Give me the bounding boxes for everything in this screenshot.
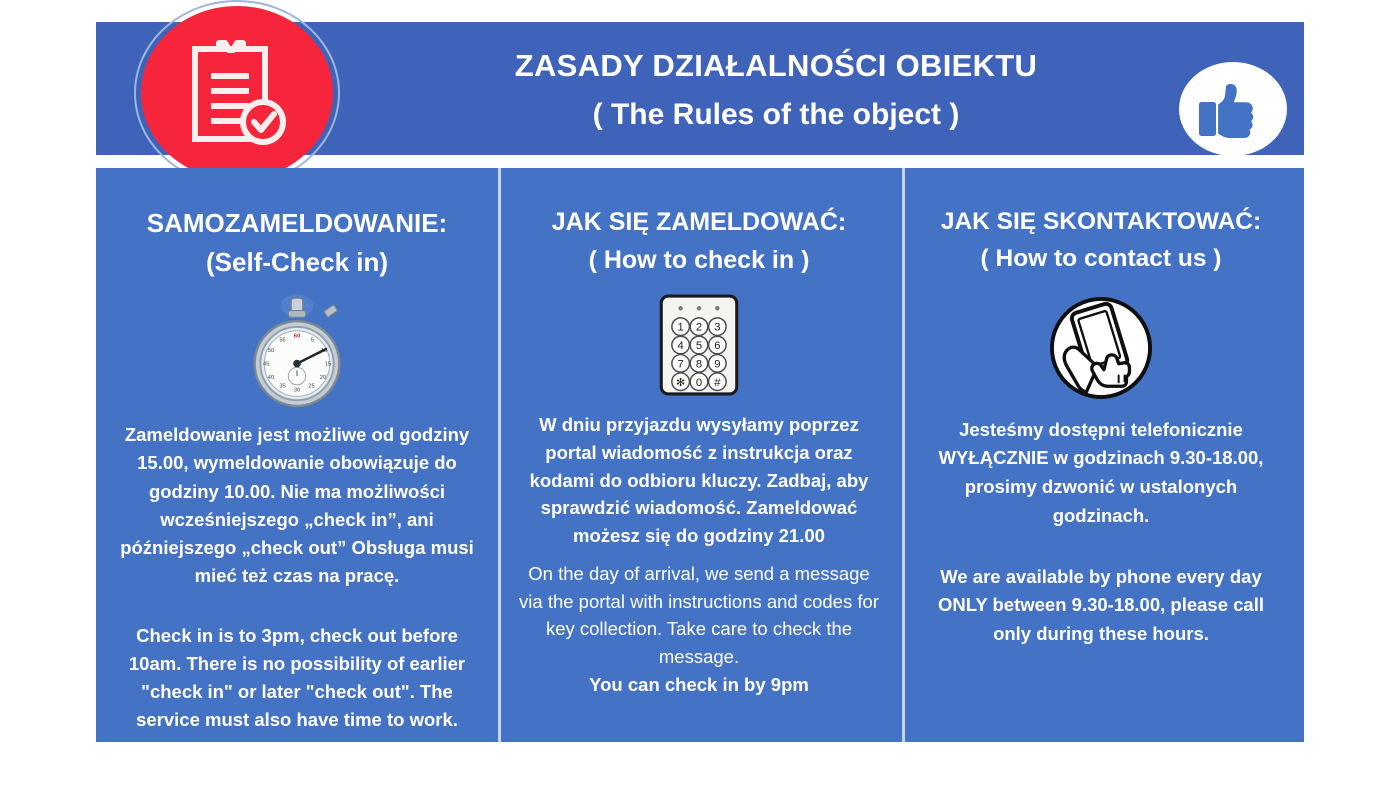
column-heading-pl: SAMOZAMELDOWANIE: [110, 208, 484, 238]
svg-text:5: 5 [696, 340, 702, 352]
svg-text:6: 6 [714, 340, 720, 352]
svg-text:0: 0 [696, 377, 702, 389]
svg-text:#: # [714, 377, 721, 389]
column-body-en-highlight: You can check in by 9pm [512, 671, 886, 699]
column-self-check-in: SAMOZAMELDOWANIE: (Self-Check in) [96, 168, 498, 742]
hand-holding-phone-icon [914, 290, 1288, 406]
svg-text:60: 60 [294, 334, 300, 340]
svg-text:9: 9 [714, 358, 720, 370]
column-heading-pl: JAK SIĘ SKONTAKTOWAĆ: [914, 208, 1288, 236]
page-title: ZASADY DZIAŁALNOŚCI OBIEKTU [396, 48, 1156, 84]
svg-text:50: 50 [268, 348, 274, 354]
poster-root: ZASADY DZIAŁALNOŚCI OBIEKTU ( The Rules … [0, 0, 1400, 788]
svg-text:35: 35 [279, 384, 285, 390]
column-body-en: Check in is to 3pm, check out before 10a… [110, 622, 484, 734]
column-body-pl: Jesteśmy dostępni telefonicznie WYŁĄCZNI… [914, 416, 1288, 531]
svg-text:3: 3 [714, 322, 720, 334]
column-heading-pl: JAK SIĘ ZAMELDOWAĆ: [512, 208, 886, 237]
column-heading-en: (Self-Check in) [110, 247, 484, 277]
column-body-pl: Zameldowanie jest możliwe od godziny 15.… [110, 421, 484, 590]
header-title-block: ZASADY DZIAŁALNOŚCI OBIEKTU ( The Rules … [396, 48, 1156, 132]
paragraph-gap [110, 590, 484, 612]
svg-text:5: 5 [311, 338, 314, 344]
svg-text:15: 15 [325, 362, 331, 368]
thumbs-up-icon [1179, 62, 1287, 156]
column-how-to-contact-us: JAK SIĘ SKONTAKTOWAĆ: ( How to contact u… [900, 168, 1302, 742]
clipboard-glyph [189, 36, 293, 148]
column-body-en: We are available by phone every day ONLY… [914, 563, 1288, 649]
svg-text:2: 2 [696, 322, 702, 334]
column-body-pl: W dniu przyjazdu wysyłamy poprzez portal… [512, 411, 886, 550]
column-how-to-check-in: JAK SIĘ ZAMELDOWAĆ: ( How to check in ) [498, 168, 900, 742]
svg-text:8: 8 [696, 358, 702, 370]
svg-text:4: 4 [678, 340, 684, 352]
clipboard-check-icon [134, 0, 348, 190]
svg-text:20: 20 [320, 375, 326, 381]
svg-text:45: 45 [263, 362, 269, 368]
stopwatch-icon: 60 5 10 15 20 25 30 35 40 45 50 55 [110, 293, 484, 411]
column-heading-en: ( How to contact us ) [914, 245, 1288, 273]
page-subtitle: ( The Rules of the object ) [396, 98, 1156, 133]
svg-text:7: 7 [678, 358, 684, 370]
svg-text:30: 30 [294, 388, 300, 394]
svg-text:1: 1 [678, 322, 684, 334]
svg-text:40: 40 [268, 375, 274, 381]
paragraph-gap [914, 531, 1288, 553]
svg-text:✻: ✻ [676, 377, 685, 389]
keypad-icon: 123 456 789 ✻0# [512, 289, 886, 401]
svg-text:25: 25 [308, 384, 314, 390]
column-body-en: On the day of arrival, we send a message… [512, 560, 886, 671]
column-heading-en: ( How to check in ) [512, 246, 886, 275]
svg-text:55: 55 [279, 338, 285, 344]
body-panel: SAMOZAMELDOWANIE: (Self-Check in) [96, 168, 1304, 742]
